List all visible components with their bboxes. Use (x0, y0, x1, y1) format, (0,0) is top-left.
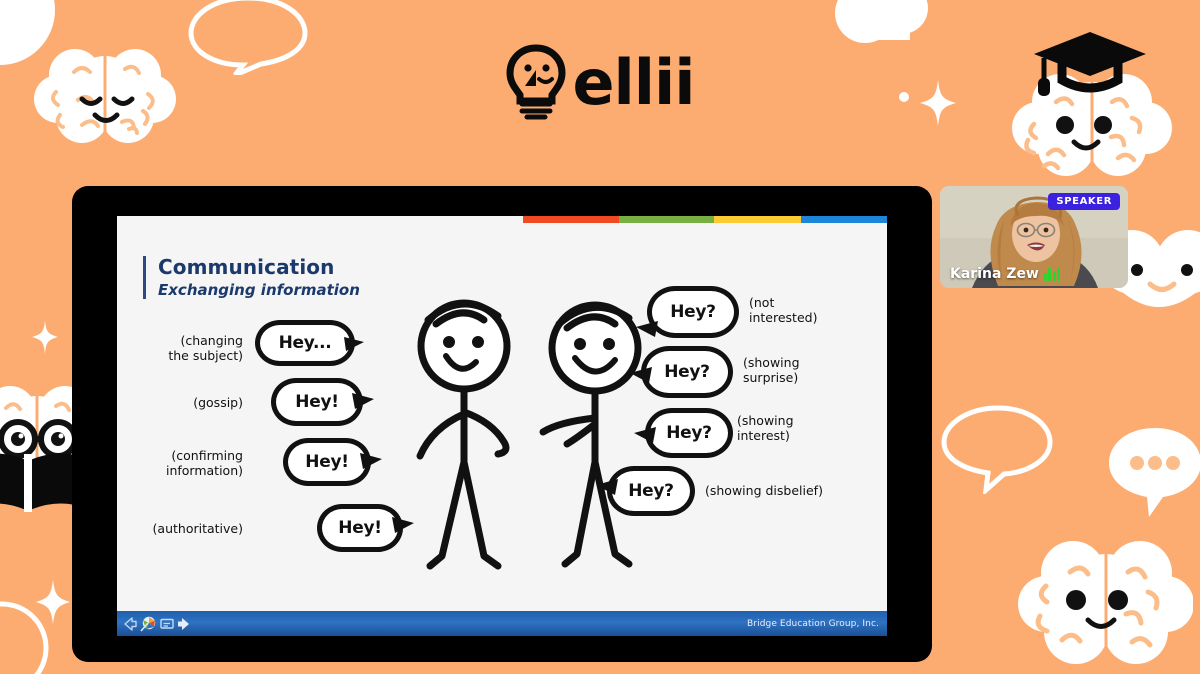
cloud-top-middle-icon (830, 0, 950, 48)
pen-tool-icon[interactable] (139, 616, 158, 632)
speech-bubble-hey-disbelief: Hey? (607, 466, 695, 516)
stripe-segment-green (619, 216, 715, 223)
page-title: Communication (158, 256, 360, 279)
annotation-gossip: (gossip) (137, 396, 243, 411)
annotation-showing-surprise: (showing surprise) (743, 356, 833, 386)
ellii-logo: ellii (0, 44, 1200, 122)
slide-screen[interactable]: Communication Exchanging information (ch… (117, 216, 887, 636)
bubble-text: Hey? (628, 481, 674, 501)
slide-footer-bar: Bridge Education Group, Inc. (117, 611, 887, 636)
bubble-text: Hey! (338, 518, 381, 538)
annotation-authoritative: (authoritative) (137, 522, 243, 537)
annotation-confirming-information: (confirming information) (127, 449, 243, 479)
speech-bubble-outline-bottom-middle-icon (938, 404, 1058, 494)
bubble-text: Hey! (295, 392, 338, 412)
annotation-changing-subject: (changing the subject) (137, 334, 243, 364)
speech-bubble-hey-gossip: Hey! (271, 378, 363, 426)
ellii-wordmark: ellii (572, 52, 694, 114)
next-slide-icon[interactable] (176, 616, 193, 632)
presentation-monitor: Communication Exchanging information (ch… (72, 186, 932, 662)
bubble-text: Hey? (666, 423, 712, 443)
presentation-stage: ellii Communication Exchanging informati… (0, 0, 1200, 674)
stick-figure-left (402, 294, 532, 584)
speech-bubble-hey-not-interested: Hey? (647, 286, 739, 338)
stripe-segment-blue (801, 216, 887, 223)
sparkle-mid-left-icon (32, 320, 58, 354)
lightbulb-face-icon (505, 44, 567, 122)
prev-slide-icon[interactable] (121, 616, 138, 632)
status-badge-speaker: SPEAKER (1048, 193, 1120, 210)
bubble-text: Hey? (670, 302, 716, 322)
webcam-name-row: Karina Zew (950, 266, 1060, 282)
bubble-text: Hey! (305, 452, 348, 472)
footer-credit: Bridge Education Group, Inc. (747, 619, 879, 629)
bubble-text: Hey? (664, 362, 710, 382)
speech-bubble-hey-confirming: Hey! (283, 438, 371, 486)
stripe-segment-red (523, 216, 619, 223)
slideshow-nav-controls[interactable] (121, 616, 193, 632)
slide-color-stripe (523, 216, 887, 223)
bubble-text: Hey... (279, 333, 332, 353)
speech-bubble-hey-ellipsis: Hey... (255, 320, 355, 366)
page-subtitle: Exchanging information (158, 282, 360, 299)
participant-name: Karina Zew (950, 266, 1039, 282)
speech-bubble-hey-authoritative: Hey! (317, 504, 403, 552)
webcam-tile-karina-zew[interactable]: SPEAKER Karina Zew (940, 186, 1128, 288)
annotation-showing-interest: (showing interest) (737, 414, 827, 444)
speech-bubble-hey-surprise: Hey? (641, 346, 733, 398)
speech-bubble-dots-right-icon (1105, 425, 1200, 525)
slide-title-block: Communication Exchanging information (143, 256, 360, 299)
speech-bubble-hey-interest: Hey? (645, 408, 733, 458)
audio-level-icon (1044, 267, 1061, 281)
annotation-showing-disbelief: (showing disbelief) (705, 484, 865, 499)
stripe-segment-yellow (714, 216, 800, 223)
slide-menu-icon[interactable] (159, 616, 175, 631)
annotation-not-interested: (not interested) (749, 296, 839, 326)
brain-bottom-right-icon (1018, 528, 1193, 674)
